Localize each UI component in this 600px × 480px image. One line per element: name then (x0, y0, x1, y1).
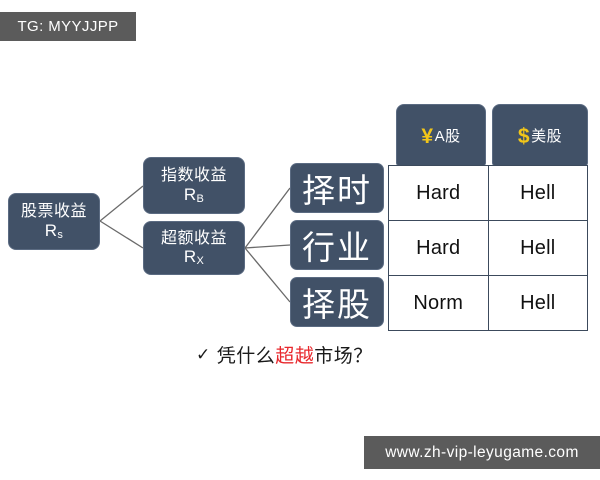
node-excess-return-symbol: RX (184, 247, 204, 266)
matrix-cell: Hell (488, 166, 588, 221)
caption-text: 凭什么超越市场？ (217, 341, 373, 368)
difficulty-matrix: Hard Hell Hard Hell Norm Hell (388, 165, 588, 331)
matrix-header-a-share[interactable]: ¥ A股 (396, 104, 486, 166)
matrix-cell: Hard (389, 166, 489, 221)
matrix-cell: Hell (488, 276, 588, 331)
caption: ✓ 凭什么超越市场？ (196, 341, 373, 368)
matrix-cell: Hard (389, 221, 489, 276)
node-sector-selection[interactable]: 行业 (290, 220, 384, 270)
node-excess-return[interactable]: 超额收益 RX (143, 221, 245, 275)
check-icon: ✓ (196, 345, 211, 365)
node-excess-return-label: 超额收益 (161, 230, 227, 248)
edge-rx-to-sector (245, 245, 290, 248)
slide-canvas: TG: MYYJJPP 股票收益 Rs 指数收益 RB 超额收益 (0, 0, 600, 480)
node-index-return-symbol: RB (184, 185, 204, 204)
node-stock-picking[interactable]: 择股 (290, 277, 384, 327)
table-row: Hard Hell (389, 221, 588, 276)
node-index-return-label: 指数收益 (161, 167, 227, 185)
caption-prefix: 凭什么 (217, 346, 276, 367)
caption-suffix: 市场？ (314, 346, 373, 367)
dollar-icon: $ (518, 126, 530, 147)
node-index-return[interactable]: 指数收益 RB (143, 157, 245, 214)
node-stock-return-label: 股票收益 (21, 203, 87, 221)
table-row: Norm Hell (389, 276, 588, 331)
edge-rs-to-rx (100, 221, 143, 248)
node-stock-return-symbol: Rs (45, 221, 63, 240)
matrix-header-us-stock[interactable]: $ 美股 (492, 104, 588, 166)
edge-rs-to-rb (100, 186, 143, 221)
node-market-timing[interactable]: 择时 (290, 163, 384, 213)
node-stock-return[interactable]: 股票收益 Rs (8, 193, 100, 250)
edge-rx-to-timing (245, 188, 290, 248)
matrix-header-a-share-label: A股 (435, 125, 461, 146)
table-row: Hard Hell (389, 166, 588, 221)
matrix-header-us-stock-label: 美股 (531, 125, 562, 146)
caption-highlight: 超越 (275, 346, 314, 367)
top-watermark-banner: TG: MYYJJPP (0, 12, 136, 41)
yen-icon: ¥ (421, 126, 433, 147)
matrix-cell: Norm (389, 276, 489, 331)
bottom-watermark-banner: www.zh-vip-leyugame.com (364, 436, 600, 469)
edge-rx-to-stock (245, 248, 290, 302)
matrix-cell: Hell (488, 221, 588, 276)
